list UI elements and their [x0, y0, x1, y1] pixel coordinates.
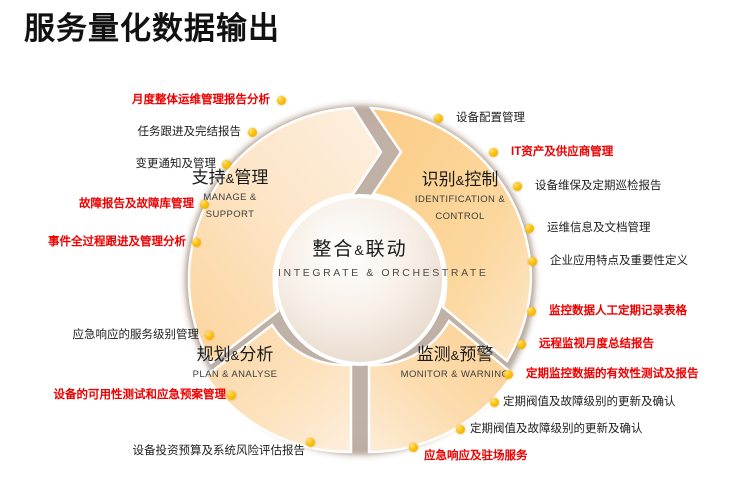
- spoke-label-left-4: 事件全过程跟进及管理分析: [48, 236, 186, 250]
- spoke-label-right-6: 远程监视月度总结报告: [539, 338, 654, 352]
- spoke-dot-left-3: [200, 200, 209, 209]
- spoke-label-left-0: 月度整体运维管理报告分析: [132, 94, 270, 108]
- cycle-diagram: 整合&联动 INTEGRATE & ORCHESTRATE 支持&管理 MANA…: [0, 0, 735, 499]
- spoke-label-left-5: 应急响应的服务级别管理: [73, 329, 200, 343]
- spoke-label-left-6: 设备的可用性测试和应急预案管理: [54, 389, 227, 403]
- spoke-dot-right-9: [456, 425, 465, 434]
- spoke-label-right-5: 监控数据人工定期记录表格: [549, 305, 687, 319]
- spoke-dot-right-5: [527, 307, 536, 316]
- spoke-dot-right-2: [513, 182, 522, 191]
- spoke-dot-left-5: [205, 331, 214, 340]
- spoke-label-right-4: 企业应用特点及重要性定义: [550, 255, 688, 269]
- spoke-dot-right-7: [504, 370, 513, 379]
- hub-disc: [278, 198, 442, 362]
- spoke-label-left-1: 任务跟进及完结报告: [138, 126, 242, 140]
- spoke-dot-left-1: [248, 128, 257, 137]
- spoke-dot-right-1: [489, 148, 498, 157]
- spoke-dot-left-7: [306, 438, 315, 447]
- spoke-dot-right-10: [409, 443, 418, 452]
- spoke-label-left-3: 故障报告及故障库管理: [79, 198, 194, 212]
- spoke-label-right-10: 应急响应及驻场服务: [424, 450, 528, 464]
- spoke-label-left-7: 设备投资预算及系统风险评估报告: [133, 445, 306, 459]
- spoke-dot-right-3: [525, 224, 534, 233]
- spoke-label-left-2: 变更通知及管理: [136, 158, 217, 172]
- spoke-label-right-2: 设备维保及定期巡检报告: [535, 180, 662, 194]
- spoke-dot-right-8: [490, 398, 499, 407]
- spoke-label-right-9: 定期阀值及故障级别的更新及确认: [470, 423, 643, 437]
- spoke-dot-right-0: [434, 114, 443, 123]
- spoke-label-right-0: 设备配置管理: [456, 112, 525, 126]
- spoke-dot-right-4: [528, 257, 537, 266]
- spoke-dot-left-2: [222, 160, 231, 169]
- spoke-label-right-8: 定期阀值及故障级别的更新及确认: [503, 396, 676, 410]
- spoke-dot-left-0: [277, 96, 286, 105]
- spoke-label-right-3: 运维信息及文档管理: [547, 222, 651, 236]
- spoke-dot-right-6: [517, 340, 526, 349]
- spoke-label-right-7: 定期监控数据的有效性测试及报告: [526, 368, 699, 382]
- spoke-label-right-1: IT资产及供应商管理: [511, 146, 613, 160]
- spoke-dot-left-6: [227, 391, 236, 400]
- spoke-dot-left-4: [192, 238, 201, 247]
